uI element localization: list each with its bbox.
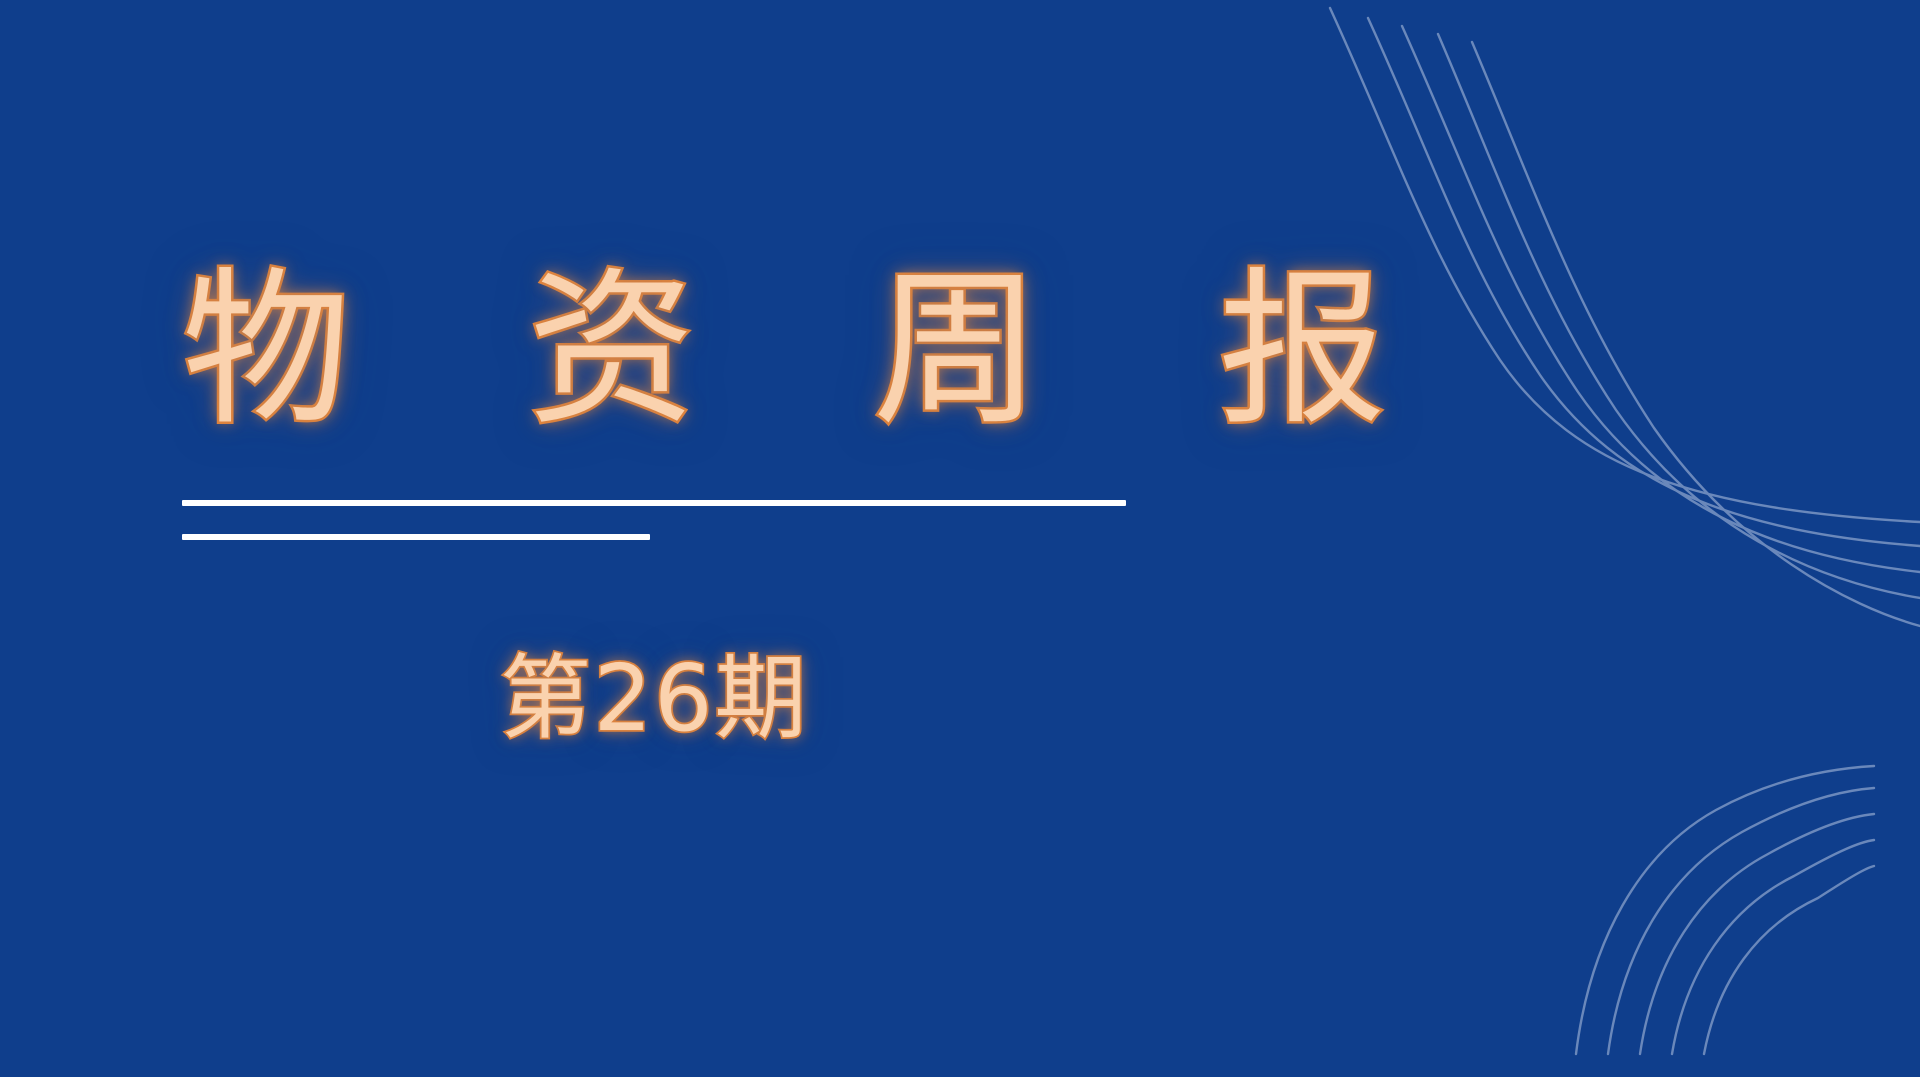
title-underline-short <box>182 534 650 540</box>
title-block: 物 资 周 报 <box>182 262 1182 438</box>
page-title: 物 资 周 报 <box>182 262 1182 438</box>
title-underline-long <box>182 500 1126 506</box>
issue-subtitle: 第26期 <box>182 648 1126 749</box>
title-slide: 物 资 周 报 第26期 <box>0 0 1920 1077</box>
